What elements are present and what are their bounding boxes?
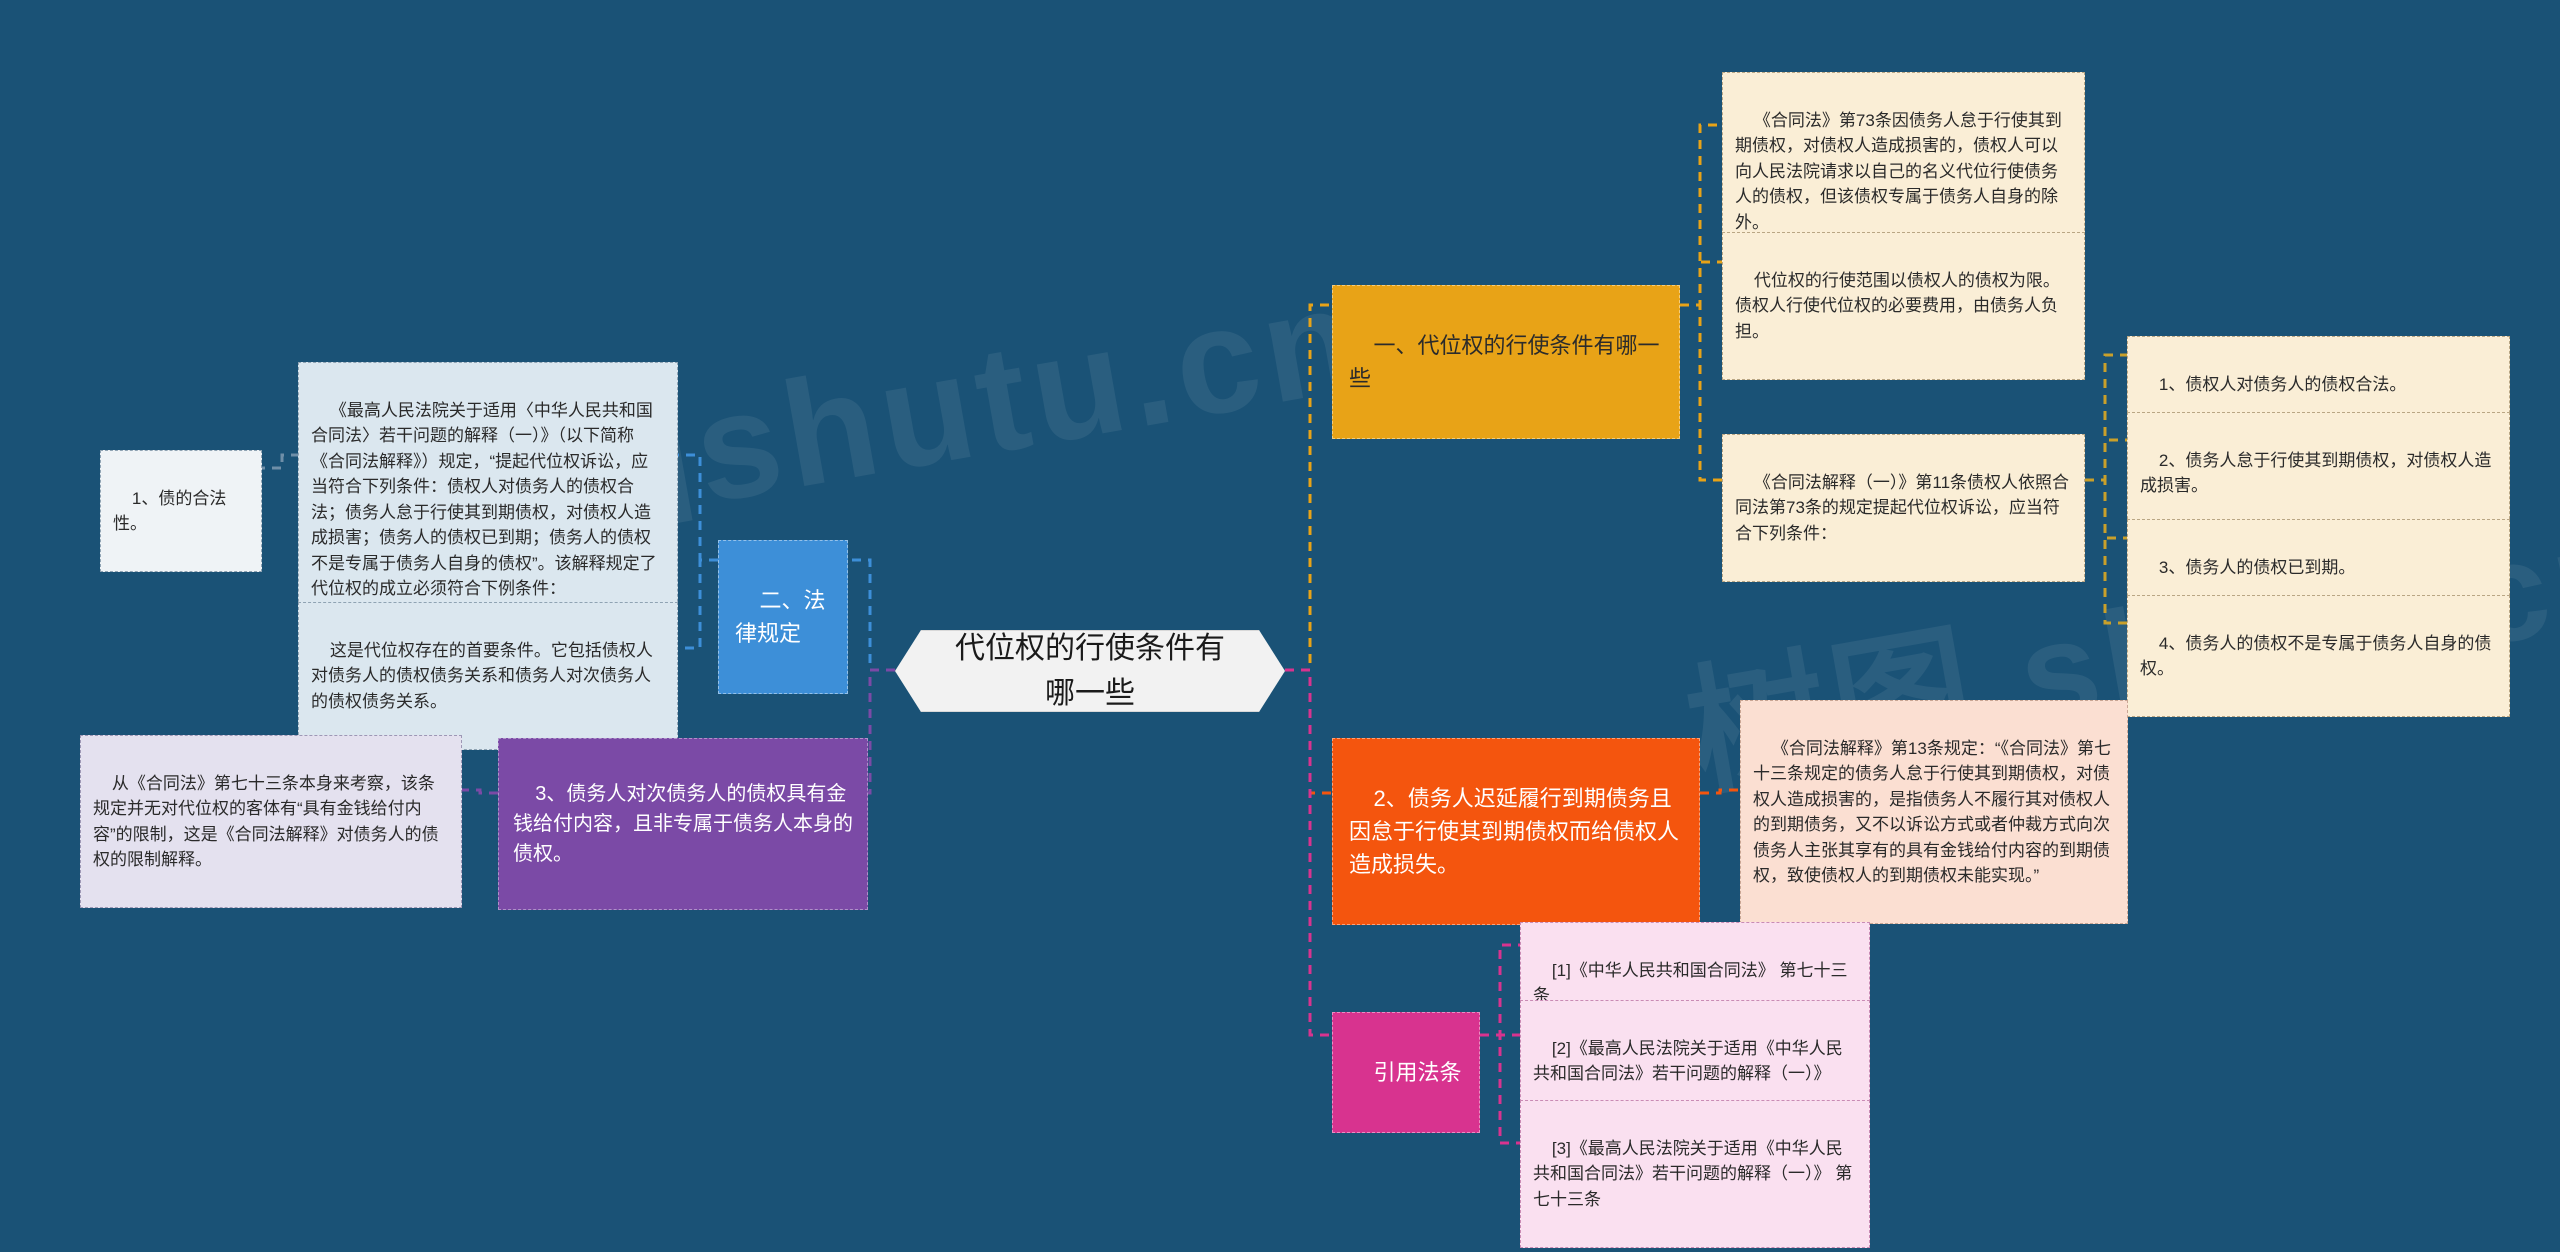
orange-child-3[interactable]: 《合同法解释（一）》第11条债权人依照合同法第73条的规定提起代位权诉讼，应当符… <box>1722 434 2085 582</box>
condition-1-text: 1、债权人对债务人的债权合法。 <box>2159 375 2406 394</box>
branch-blue-label: 二、法律规定 <box>735 588 825 646</box>
branch-orange[interactable]: 一、代位权的行使条件有哪一些 <box>1332 285 1680 439</box>
left-leaf-legality[interactable]: 1、债的合法性。 <box>100 450 262 572</box>
orange-child-2-text: 代位权的行使范围以债权人的债权为限。债权人行使代位权的必要费用，由债务人负担。 <box>1735 271 2060 341</box>
branch-purple-label: 3、债务人对次债务人的债权具有金钱给付内容，且非专属于债务人本身的债权。 <box>513 783 853 865</box>
purple-note[interactable]: 从《合同法》第七十三条本身来考察，该条规定并无对代位权的客体有“具有金钱给付内容… <box>80 735 462 908</box>
branch-red[interactable]: 2、债务人迟延履行到期债务且因怠于行使其到期债权而给债权人造成损失。 <box>1332 738 1700 925</box>
blue-child-2[interactable]: 这是代位权存在的首要条件。它包括债权人对债务人的债权债务关系和债务人对次债务人的… <box>298 602 678 750</box>
branch-pink-label: 引用法条 <box>1373 1060 1461 1085</box>
citation-2-text: [2]《最高人民法院关于适用《中华人民共和国合同法》若干问题的解释（一）》 <box>1533 1039 1843 1084</box>
branch-red-label: 2、债务人迟延履行到期债务且因怠于行使其到期债权而给债权人造成损失。 <box>1349 786 1679 877</box>
blue-child-2-text: 这是代位权存在的首要条件。它包括债权人对债务人的债权债务关系和债务人对次债务人的… <box>311 641 653 711</box>
condition-4-text: 4、债务人的债权不是专属于债务人自身的债权。 <box>2140 634 2491 679</box>
blue-child-1[interactable]: 《最高人民法院关于适用〈中华人民共和国合同法〉若干问题的解释（一）》（以下简称《… <box>298 362 678 637</box>
citation-3-text: [3]《最高人民法院关于适用《中华人民共和国合同法》若干问题的解释（一）》 第七… <box>1533 1139 1852 1209</box>
red-child[interactable]: 《合同法解释》第13条规定：“《合同法》第七十三条规定的债务人怠于行使其到期债权… <box>1740 700 2128 924</box>
branch-blue[interactable]: 二、法律规定 <box>718 540 848 694</box>
citation-3[interactable]: [3]《最高人民法院关于适用《中华人民共和国合同法》若干问题的解释（一）》 第七… <box>1520 1100 1870 1248</box>
orange-child-2[interactable]: 代位权的行使范围以债权人的债权为限。债权人行使代位权的必要费用，由债务人负担。 <box>1722 232 2085 380</box>
orange-child-1-text: 《合同法》第73条因债务人怠于行使其到期债权，对债权人造成损害的，债权人可以向人… <box>1735 111 2062 232</box>
branch-orange-label: 一、代位权的行使条件有哪一些 <box>1349 333 1659 391</box>
branch-purple[interactable]: 3、债务人对次债务人的债权具有金钱给付内容，且非专属于债务人本身的债权。 <box>498 738 868 910</box>
red-child-text: 《合同法解释》第13条规定：“《合同法》第七十三条规定的债务人怠于行使其到期债权… <box>1753 739 2111 886</box>
condition-2-text: 2、债务人怠于行使其到期债权，对债权人造成损害。 <box>2140 451 2491 496</box>
central-topic-label: 代位权的行使条件有哪一些 <box>942 626 1238 716</box>
condition-4[interactable]: 4、债务人的债权不是专属于债务人自身的债权。 <box>2127 595 2510 717</box>
mindmap-canvas: 树图shutu.cn 树图 shutu.cn <box>0 0 2560 1252</box>
citation-1-text: [1]《中华人民共和国合同法》 第七十三条 <box>1533 961 1848 1006</box>
central-topic[interactable]: 代位权的行使条件有哪一些 <box>895 630 1285 712</box>
branch-pink[interactable]: 引用法条 <box>1332 1012 1480 1133</box>
orange-child-3-text: 《合同法解释（一）》第11条债权人依照合同法第73条的规定提起代位权诉讼，应当符… <box>1735 473 2069 543</box>
blue-child-1-text: 《最高人民法院关于适用〈中华人民共和国合同法〉若干问题的解释（一）》（以下简称《… <box>311 401 657 599</box>
left-leaf-legality-text: 1、债的合法性。 <box>113 489 226 534</box>
condition-3-text: 3、债务人的债权已到期。 <box>2159 558 2355 577</box>
condition-2[interactable]: 2、债务人怠于行使其到期债权，对债权人造成损害。 <box>2127 412 2510 534</box>
purple-note-text: 从《合同法》第七十三条本身来考察，该条规定并无对代位权的客体有“具有金钱给付内容… <box>93 774 439 870</box>
